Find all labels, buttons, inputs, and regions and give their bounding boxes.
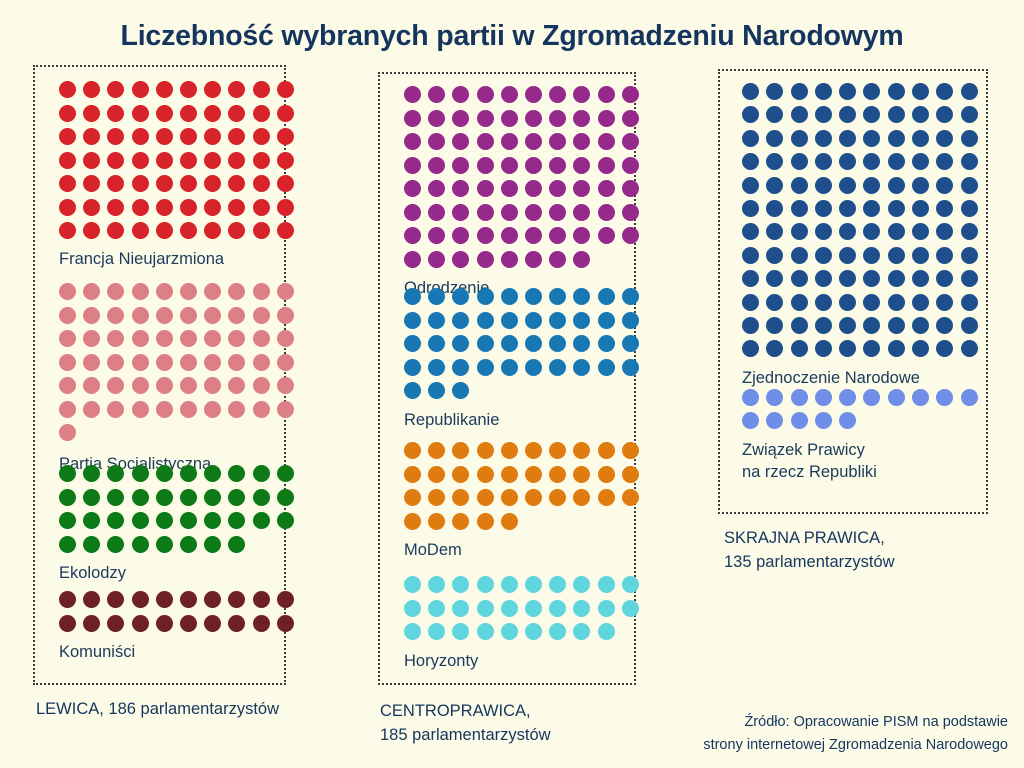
- seat-dot: [404, 359, 421, 376]
- seat-dot: [766, 340, 783, 357]
- seat-dot: [888, 340, 905, 357]
- seat-dot: [622, 442, 639, 459]
- seat-dot: [452, 251, 469, 268]
- seat-dot: [428, 359, 445, 376]
- seat-dot: [428, 442, 445, 459]
- seat-dot: [83, 354, 100, 371]
- seat-dot: [180, 489, 197, 506]
- seat-dot: [228, 283, 245, 300]
- seat-dot: [156, 330, 173, 347]
- seat-dot: [107, 465, 124, 482]
- seat-dot: [228, 615, 245, 632]
- seat-dot: [277, 307, 294, 324]
- seat-dot: [132, 377, 149, 394]
- seat-dot: [622, 157, 639, 174]
- seat-dot: [936, 83, 953, 100]
- seat-dot: [863, 389, 880, 406]
- seat-dot: [622, 576, 639, 593]
- seat-dot: [622, 466, 639, 483]
- seat-dot: [132, 175, 149, 192]
- seat-dot: [573, 335, 590, 352]
- seat-dot: [180, 152, 197, 169]
- seat-dot: [622, 489, 639, 506]
- seat-dot: [204, 465, 221, 482]
- seat-dot: [477, 335, 494, 352]
- seat-dot: [791, 83, 808, 100]
- seat-dot: [888, 389, 905, 406]
- seat-dot: [598, 623, 615, 640]
- seat-dot-grid: [742, 83, 978, 364]
- seat-dot: [815, 130, 832, 147]
- seat-dot: [839, 340, 856, 357]
- seat-dot: [525, 86, 542, 103]
- seat-dot: [428, 335, 445, 352]
- seat-dot-grid: [59, 283, 294, 448]
- seat-dot: [573, 489, 590, 506]
- bloc-label-skrajna-prawica: SKRAJNA PRAWICA, 135 parlamentarzystów: [724, 527, 1024, 575]
- seat-dot: [622, 133, 639, 150]
- seat-dot: [156, 175, 173, 192]
- seat-dot: [863, 130, 880, 147]
- seat-dot: [107, 105, 124, 122]
- seat-dot: [204, 489, 221, 506]
- seat-dot: [452, 133, 469, 150]
- seat-dot: [912, 153, 929, 170]
- seat-dot: [132, 512, 149, 529]
- seat-dot: [961, 130, 978, 147]
- seat-dot: [180, 591, 197, 608]
- seat-dot: [59, 354, 76, 371]
- seat-dot: [59, 536, 76, 553]
- seat-dot: [766, 200, 783, 217]
- seat-dot: [936, 106, 953, 123]
- seat-dot: [815, 200, 832, 217]
- seat-dot: [912, 389, 929, 406]
- seat-dot: [253, 401, 270, 418]
- seat-dot: [598, 489, 615, 506]
- seat-dot: [404, 180, 421, 197]
- seat-dot: [59, 175, 76, 192]
- seat-dot: [253, 377, 270, 394]
- seat-dot: [428, 576, 445, 593]
- seat-dot: [253, 489, 270, 506]
- seat-dot: [180, 615, 197, 632]
- seat-dot: [156, 377, 173, 394]
- bloc-panel-centroprawica-content: OdrodzenieRepublikanieMoDemHoryzonty: [380, 74, 634, 683]
- seat-dot: [549, 335, 566, 352]
- seat-dot: [766, 177, 783, 194]
- seat-dot: [132, 307, 149, 324]
- seat-dot: [912, 106, 929, 123]
- seat-dot: [107, 283, 124, 300]
- seat-dot: [83, 465, 100, 482]
- seat-dot: [573, 600, 590, 617]
- seat-dot: [549, 359, 566, 376]
- seat-dot: [501, 251, 518, 268]
- seat-dot: [404, 489, 421, 506]
- seat-dot: [766, 153, 783, 170]
- seat-dot: [742, 106, 759, 123]
- seat-dot: [742, 200, 759, 217]
- seat-dot: [228, 175, 245, 192]
- seat-dot: [83, 199, 100, 216]
- seat-dot: [598, 335, 615, 352]
- seat-dot: [132, 591, 149, 608]
- seat-dot: [501, 86, 518, 103]
- seat-dot: [204, 330, 221, 347]
- seat-dot: [132, 222, 149, 239]
- seat-dot: [477, 513, 494, 530]
- seat-dot: [253, 81, 270, 98]
- seat-dot: [132, 105, 149, 122]
- seat-dot: [742, 270, 759, 287]
- seat-dot: [936, 247, 953, 264]
- seat-dot: [573, 180, 590, 197]
- seat-dot: [204, 512, 221, 529]
- seat-dot: [791, 200, 808, 217]
- seat-dot-grid: [404, 442, 639, 536]
- seat-dot: [573, 312, 590, 329]
- seat-dot: [863, 340, 880, 357]
- seat-dot: [573, 576, 590, 593]
- seat-dot: [742, 340, 759, 357]
- seat-dot: [598, 600, 615, 617]
- seat-dot: [156, 152, 173, 169]
- seat-dot: [936, 270, 953, 287]
- seat-dot: [132, 401, 149, 418]
- seat-dot: [501, 359, 518, 376]
- seat-dot: [525, 489, 542, 506]
- seat-dot: [107, 512, 124, 529]
- seat-dot: [107, 128, 124, 145]
- seat-dot: [107, 591, 124, 608]
- seat-dot: [132, 615, 149, 632]
- seat-dot: [742, 317, 759, 334]
- seat-dot: [549, 110, 566, 127]
- seat-dot: [912, 83, 929, 100]
- seat-dot: [501, 489, 518, 506]
- seat-dot: [204, 354, 221, 371]
- seat-dot: [428, 623, 445, 640]
- seat-dot: [573, 623, 590, 640]
- seat-dot: [742, 294, 759, 311]
- seat-dot: [404, 110, 421, 127]
- seat-dot: [428, 133, 445, 150]
- seat-dot: [253, 591, 270, 608]
- party-group: Zjednoczenie Narodowe: [742, 83, 978, 389]
- seat-dot: [107, 152, 124, 169]
- seat-dot: [961, 340, 978, 357]
- seat-dot: [180, 307, 197, 324]
- seat-dot: [839, 412, 856, 429]
- seat-dot: [598, 288, 615, 305]
- seat-dot: [477, 180, 494, 197]
- seat-dot: [180, 512, 197, 529]
- seat-dot: [404, 157, 421, 174]
- seat-dot: [936, 130, 953, 147]
- seat-dot: [936, 340, 953, 357]
- seat-dot: [452, 466, 469, 483]
- seat-dot: [501, 442, 518, 459]
- seat-dot-grid: [59, 465, 294, 559]
- seat-dot: [228, 307, 245, 324]
- seat-dot: [107, 489, 124, 506]
- seat-dot: [83, 307, 100, 324]
- seat-dot: [791, 130, 808, 147]
- seat-dot: [228, 128, 245, 145]
- bloc-panel-lewica: Francja NieujarzmionaPartia Socjalistycz…: [33, 65, 286, 685]
- seat-dot: [742, 389, 759, 406]
- seat-dot: [766, 412, 783, 429]
- seat-dot: [525, 442, 542, 459]
- seat-dot: [888, 247, 905, 264]
- seat-dot: [936, 177, 953, 194]
- seat-dot: [742, 177, 759, 194]
- seat-dot: [59, 401, 76, 418]
- seat-dot: [791, 294, 808, 311]
- seat-dot: [839, 106, 856, 123]
- seat-dot: [83, 81, 100, 98]
- seat-dot: [501, 576, 518, 593]
- seat-dot: [573, 251, 590, 268]
- seat-dot: [277, 489, 294, 506]
- bloc-panel-centroprawica: OdrodzenieRepublikanieMoDemHoryzonty: [378, 72, 636, 685]
- seat-dot: [477, 442, 494, 459]
- seat-dot: [961, 106, 978, 123]
- seat-dot: [863, 106, 880, 123]
- seat-dot: [477, 251, 494, 268]
- seat-dot: [936, 317, 953, 334]
- seat-dot: [477, 133, 494, 150]
- seat-dot: [815, 270, 832, 287]
- seat-dot: [525, 335, 542, 352]
- seat-dot: [180, 105, 197, 122]
- seat-dot: [107, 81, 124, 98]
- seat-dot: [452, 623, 469, 640]
- party-group: MoDem: [404, 442, 639, 562]
- seat-dot: [228, 489, 245, 506]
- seat-dot: [549, 157, 566, 174]
- seat-dot: [791, 340, 808, 357]
- seat-dot: [598, 227, 615, 244]
- seat-dot: [501, 110, 518, 127]
- seat-dot: [525, 466, 542, 483]
- seat-dot: [622, 600, 639, 617]
- seat-dot: [598, 312, 615, 329]
- seat-dot: [791, 223, 808, 240]
- seat-dot: [59, 152, 76, 169]
- seat-dot: [277, 81, 294, 98]
- seat-dot: [477, 110, 494, 127]
- seat-dot: [573, 466, 590, 483]
- seat-dot: [501, 288, 518, 305]
- seat-dot: [277, 283, 294, 300]
- seat-dot: [573, 288, 590, 305]
- seat-dot: [452, 335, 469, 352]
- seat-dot: [404, 335, 421, 352]
- seat-dot: [598, 466, 615, 483]
- seat-dot-grid: [404, 86, 639, 274]
- seat-dot: [253, 354, 270, 371]
- seat-dot: [253, 615, 270, 632]
- seat-dot: [204, 105, 221, 122]
- seat-dot: [132, 199, 149, 216]
- seat-dot: [452, 180, 469, 197]
- seat-dot: [525, 600, 542, 617]
- seat-dot: [961, 223, 978, 240]
- seat-dot: [477, 86, 494, 103]
- seat-dot: [404, 576, 421, 593]
- seat-dot: [204, 175, 221, 192]
- seat-dot: [912, 200, 929, 217]
- seat-dot: [961, 153, 978, 170]
- seat-dot: [549, 227, 566, 244]
- seat-dot: [598, 157, 615, 174]
- seat-dot-grid: [59, 81, 294, 246]
- seat-dot: [598, 442, 615, 459]
- seat-dot: [501, 227, 518, 244]
- seat-dot: [573, 227, 590, 244]
- seat-dot: [59, 377, 76, 394]
- seat-dot: [277, 512, 294, 529]
- seat-dot: [549, 251, 566, 268]
- seat-dot: [452, 86, 469, 103]
- seat-dot: [204, 377, 221, 394]
- seat-dot: [477, 623, 494, 640]
- seat-dot: [452, 489, 469, 506]
- party-group: Związek Prawicy na rzecz Republiki: [742, 389, 978, 483]
- seat-dot: [791, 389, 808, 406]
- seat-dot: [622, 288, 639, 305]
- seat-dot: [277, 330, 294, 347]
- seat-dot-grid: [404, 576, 639, 647]
- seat-dot: [253, 330, 270, 347]
- bloc-label-lewica: LEWICA, 186 parlamentarzystów: [36, 698, 356, 722]
- seat-dot: [59, 81, 76, 98]
- seat-dot: [888, 294, 905, 311]
- seat-dot: [428, 251, 445, 268]
- seat-dot: [839, 294, 856, 311]
- seat-dot: [863, 294, 880, 311]
- seat-dot: [839, 177, 856, 194]
- seat-dot: [549, 623, 566, 640]
- seat-dot: [180, 354, 197, 371]
- seat-dot: [83, 283, 100, 300]
- seat-dot: [83, 105, 100, 122]
- seat-dot: [549, 489, 566, 506]
- seat-dot: [839, 153, 856, 170]
- seat-dot: [204, 591, 221, 608]
- seat-dot: [936, 389, 953, 406]
- seat-dot: [766, 247, 783, 264]
- seat-dot: [888, 83, 905, 100]
- infographic-canvas: Liczebność wybranych partii w Zgromadzen…: [0, 0, 1024, 768]
- seat-dot: [156, 512, 173, 529]
- seat-dot: [277, 175, 294, 192]
- seat-dot: [277, 377, 294, 394]
- seat-dot: [622, 110, 639, 127]
- seat-dot: [501, 466, 518, 483]
- seat-dot: [404, 466, 421, 483]
- seat-dot: [525, 359, 542, 376]
- seat-dot: [228, 377, 245, 394]
- seat-dot: [428, 110, 445, 127]
- seat-dot-grid: [59, 591, 294, 638]
- seat-dot: [501, 513, 518, 530]
- seat-dot: [961, 317, 978, 334]
- seat-dot: [863, 223, 880, 240]
- seat-dot: [573, 110, 590, 127]
- seat-dot: [204, 283, 221, 300]
- seat-dot: [525, 312, 542, 329]
- seat-dot: [452, 227, 469, 244]
- seat-dot: [59, 591, 76, 608]
- seat-dot: [501, 204, 518, 221]
- seat-dot: [180, 465, 197, 482]
- seat-dot: [253, 105, 270, 122]
- seat-dot: [204, 199, 221, 216]
- seat-dot: [622, 312, 639, 329]
- seat-dot: [156, 591, 173, 608]
- seat-dot: [549, 576, 566, 593]
- seat-dot: [228, 354, 245, 371]
- seat-dot: [228, 199, 245, 216]
- seat-dot: [204, 307, 221, 324]
- seat-dot: [107, 615, 124, 632]
- seat-dot: [180, 81, 197, 98]
- seat-dot: [912, 223, 929, 240]
- seat-dot: [452, 312, 469, 329]
- seat-dot: [253, 222, 270, 239]
- seat-dot: [428, 86, 445, 103]
- seat-dot: [452, 382, 469, 399]
- seat-dot: [839, 200, 856, 217]
- seat-dot: [598, 86, 615, 103]
- seat-dot: [132, 330, 149, 347]
- seat-dot: [156, 307, 173, 324]
- seat-dot: [428, 180, 445, 197]
- party-group: Odrodzenie: [404, 86, 639, 300]
- seat-dot: [132, 152, 149, 169]
- seat-dot: [839, 247, 856, 264]
- seat-dot: [791, 412, 808, 429]
- party-label: Związek Prawicy na rzecz Republiki: [742, 440, 978, 484]
- seat-dot-grid: [742, 389, 978, 436]
- seat-dot: [180, 222, 197, 239]
- seat-dot: [501, 157, 518, 174]
- seat-dot: [428, 288, 445, 305]
- seat-dot: [83, 591, 100, 608]
- seat-dot: [228, 222, 245, 239]
- seat-dot: [573, 204, 590, 221]
- seat-dot: [549, 442, 566, 459]
- seat-dot: [501, 180, 518, 197]
- seat-dot: [132, 489, 149, 506]
- seat-dot: [888, 153, 905, 170]
- seat-dot: [549, 288, 566, 305]
- bloc-panel-skrajna-prawica-content: Zjednoczenie NarodoweZwiązek Prawicy na …: [720, 71, 986, 512]
- seat-dot: [156, 199, 173, 216]
- seat-dot: [791, 247, 808, 264]
- seat-dot: [863, 153, 880, 170]
- party-label: Ekolodzy: [59, 563, 294, 585]
- seat-dot: [912, 340, 929, 357]
- seat-dot: [501, 600, 518, 617]
- party-group: Francja Nieujarzmiona: [59, 81, 294, 270]
- seat-dot: [107, 377, 124, 394]
- seat-dot: [83, 615, 100, 632]
- seat-dot: [501, 312, 518, 329]
